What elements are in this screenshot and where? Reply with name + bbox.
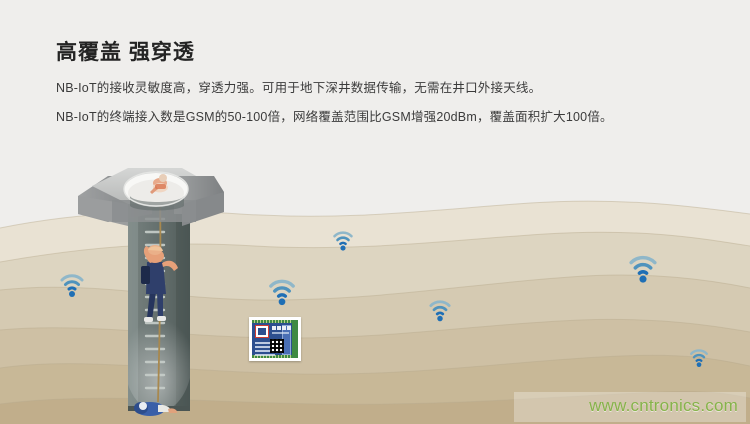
pcb-brand-text (272, 326, 292, 330)
nbiot-module-card (249, 317, 301, 361)
slide-canvas: 高覆盖 强穿透 NB-IoT的接收灵敏度高，穿透力强。可用于地下深井数据传输，无… (0, 0, 750, 424)
module-pcb-board (252, 320, 298, 358)
illustration-scene (0, 0, 750, 424)
site-watermark: www.cntronics.com (589, 396, 738, 416)
pcb-logo-mark (258, 328, 266, 335)
pcb-vendor-logo (255, 325, 269, 338)
pcb-castellated-edge-right (292, 320, 298, 358)
pcb-brand-subtext (272, 332, 289, 334)
pcb-qr-code (270, 339, 284, 353)
